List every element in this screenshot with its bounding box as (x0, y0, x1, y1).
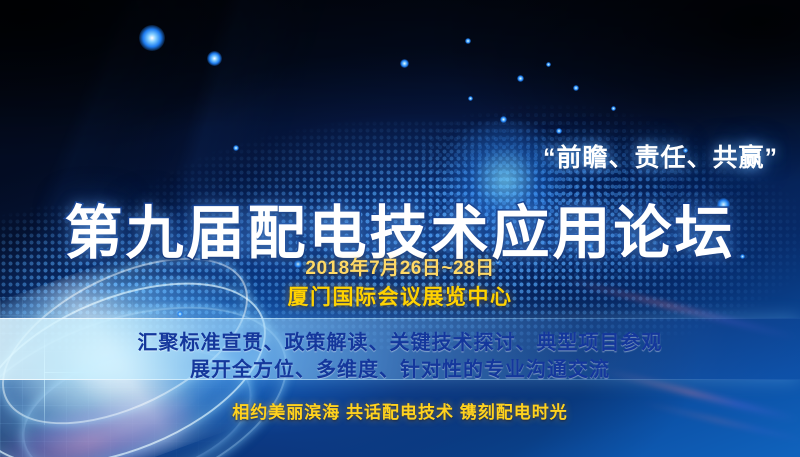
tagline: “前瞻、责任、共赢” (543, 138, 778, 174)
banner-content: “前瞻、责任、共赢” 第九届配电技术应用论坛 2018年7月26日~28日 厦门… (0, 0, 800, 457)
conference-banner: “前瞻、责任、共赢” 第九届配电技术应用论坛 2018年7月26日~28日 厦门… (0, 0, 800, 457)
event-slogan: 相约美丽滨海 共话配电技术 镌刻配电时光 (0, 398, 800, 423)
event-date: 2018年7月26日~28日 (0, 253, 800, 280)
event-venue: 厦门国际会议展览中心 (0, 281, 800, 311)
highlight-line-1: 汇聚标准宣贯、政策解读、关键技术探讨、典型项目参观 (0, 326, 800, 355)
highlight-line-2: 展开全方位、多维度、针对性的专业沟通交流 (0, 353, 800, 382)
